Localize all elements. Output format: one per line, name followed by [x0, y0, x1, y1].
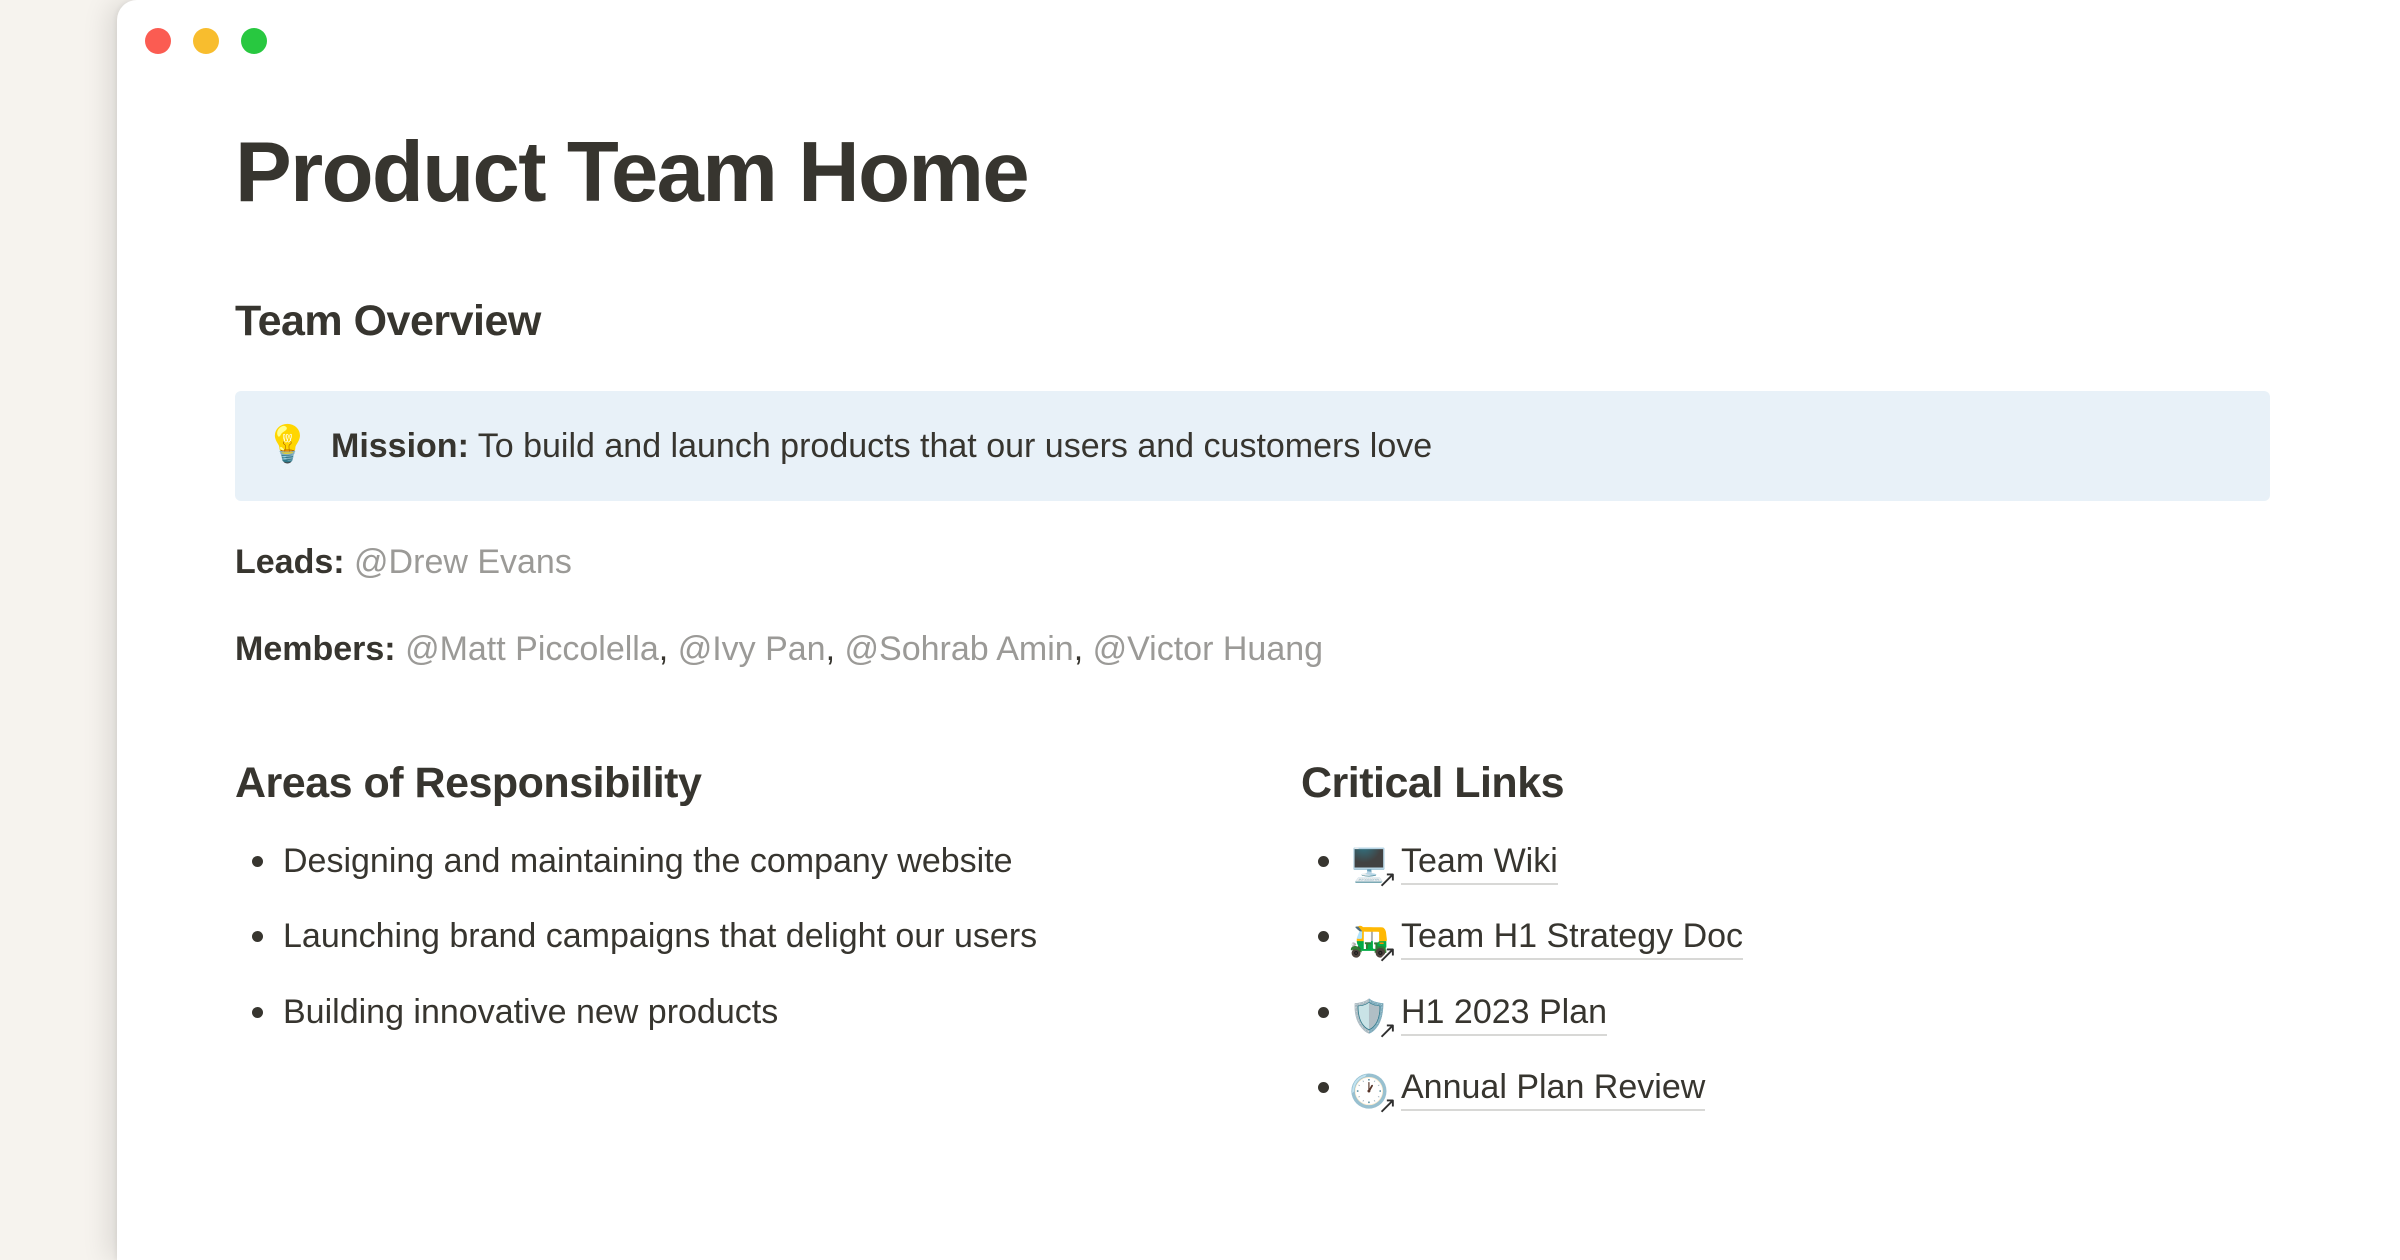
maximize-button[interactable]	[241, 28, 267, 54]
document-body: Product Team Home Team Overview 💡 Missio…	[117, 92, 2400, 1138]
shield-icon: 🛡️↗	[1349, 1000, 1395, 1032]
link-annual-plan-review[interactable]: Annual Plan Review	[1401, 1068, 1705, 1111]
light-bulb-icon: 💡	[265, 421, 307, 466]
list-item[interactable]: 🕐↗Annual Plan Review	[1301, 1063, 2315, 1112]
list-item[interactable]: 🛺↗Team H1 Strategy Doc	[1301, 912, 2315, 961]
link-h1-2023-plan[interactable]: H1 2023 Plan	[1401, 993, 1607, 1036]
close-button[interactable]	[145, 28, 171, 54]
clock-icon: 🕐↗	[1349, 1075, 1395, 1107]
leads-row: Leads: @Drew Evans	[235, 537, 2400, 588]
mention-ivy-pan[interactable]: @Ivy Pan	[678, 630, 826, 668]
mention-sohrab-amin[interactable]: @Sohrab Amin	[845, 630, 1074, 668]
leads-label: Leads:	[235, 543, 345, 581]
external-link-arrow-icon: ↗	[1378, 944, 1397, 967]
two-column-section: Areas of Responsibility Designing and ma…	[235, 757, 2400, 1138]
list-item[interactable]: Designing and maintaining the company we…	[235, 837, 1155, 886]
list-item[interactable]: Launching brand campaigns that delight o…	[235, 912, 1155, 961]
list-item[interactable]: Building innovative new products	[235, 988, 1155, 1037]
members-row: Members: @Matt Piccolella, @Ivy Pan, @So…	[235, 624, 2400, 675]
page-title[interactable]: Product Team Home	[235, 92, 2400, 217]
desktop-computer-icon: 🖥️↗	[1349, 849, 1395, 881]
mention-drew-evans[interactable]: @Drew Evans	[354, 543, 572, 581]
mention-victor-huang[interactable]: @Victor Huang	[1093, 630, 1323, 668]
mention-matt-piccolella[interactable]: @Matt Piccolella	[405, 630, 659, 668]
list-item[interactable]: 🛡️↗H1 2023 Plan	[1301, 988, 2315, 1037]
link-team-wiki[interactable]: Team Wiki	[1401, 842, 1558, 885]
mission-text: To build and launch products that our us…	[469, 427, 1432, 465]
mention-separator: ,	[659, 630, 668, 668]
window-titlebar[interactable]	[117, 0, 2400, 92]
mention-separator: ,	[826, 630, 835, 668]
members-label: Members:	[235, 630, 396, 668]
traffic-lights-group	[145, 28, 267, 54]
list-item[interactable]: 🖥️↗Team Wiki	[1301, 837, 2315, 886]
section-heading-critical-links[interactable]: Critical Links	[1301, 757, 2315, 811]
application-window: Product Team Home Team Overview 💡 Missio…	[117, 0, 2400, 1260]
section-heading-team-overview[interactable]: Team Overview	[235, 217, 2400, 349]
external-link-arrow-icon: ↗	[1378, 869, 1397, 892]
column-critical-links: Critical Links 🖥️↗Team Wiki 🛺↗Team H1 St…	[1275, 757, 2315, 1138]
section-heading-areas-of-responsibility[interactable]: Areas of Responsibility	[235, 757, 1155, 811]
minimize-button[interactable]	[193, 28, 219, 54]
mention-separator: ,	[1074, 630, 1083, 668]
critical-links-list: 🖥️↗Team Wiki 🛺↗Team H1 Strategy Doc 🛡️↗H…	[1301, 837, 2315, 1112]
mission-callout-text: Mission: To build and launch products th…	[331, 421, 1432, 471]
link-team-h1-strategy-doc[interactable]: Team H1 Strategy Doc	[1401, 917, 1743, 960]
mission-callout[interactable]: 💡 Mission: To build and launch products …	[235, 391, 2270, 501]
auto-rickshaw-icon: 🛺↗	[1349, 924, 1395, 956]
column-responsibilities: Areas of Responsibility Designing and ma…	[235, 757, 1275, 1138]
mission-label: Mission:	[331, 427, 469, 465]
responsibilities-list: Designing and maintaining the company we…	[235, 837, 1155, 1037]
external-link-arrow-icon: ↗	[1378, 1020, 1397, 1043]
external-link-arrow-icon: ↗	[1378, 1095, 1397, 1118]
